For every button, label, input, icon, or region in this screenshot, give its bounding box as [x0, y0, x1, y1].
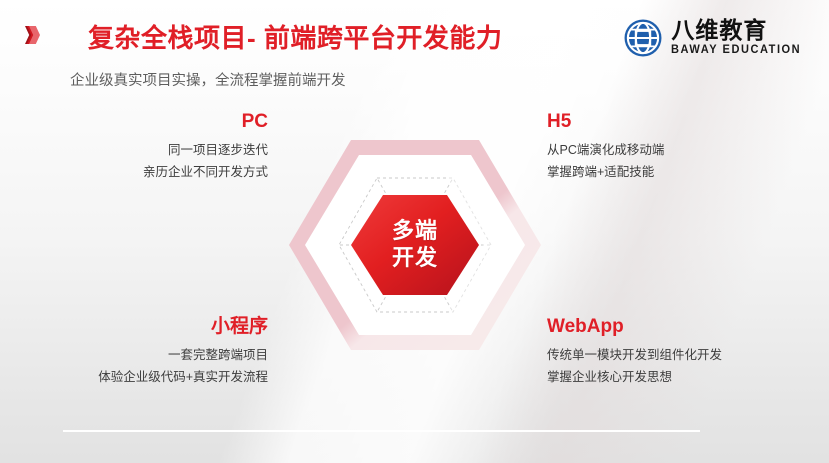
feature-line-miniprogram-2: 体验企业级代码+真实开发流程 [0, 367, 282, 389]
feature-line-h5-1: 从PC端演化成移动端 [545, 140, 825, 162]
hexagon-shapes [287, 138, 543, 352]
chevron-right-triple-icon [36, 26, 40, 44]
feature-heading-pc: PC [0, 112, 282, 131]
feature-block-miniprogram: 小程序 一套完整跨端项目 体验企业级代码+真实开发流程 [0, 317, 282, 388]
feature-heading-h5: H5 [545, 112, 825, 131]
brand-logo: 八维教育 BAWAY EDUCATION [622, 17, 807, 59]
hexagon-diagram: 多端 开发 [287, 138, 543, 352]
feature-heading-webapp: WebApp [545, 317, 825, 336]
slide-canvas: 复杂全栈项目- 前端跨平台开发能力 企业级真实项目实操，全流程掌握前端开发 八维… [0, 0, 829, 463]
bottom-divider [63, 430, 700, 432]
feature-block-webapp: WebApp 传统单一模块开发到组件化开发 掌握企业核心开发思想 [545, 317, 825, 388]
feature-line-pc-2: 亲历企业不同开发方式 [0, 162, 282, 184]
brand-name-cn: 八维教育 [671, 19, 807, 42]
globe-grid-icon [622, 17, 664, 59]
feature-line-webapp-2: 掌握企业核心开发思想 [545, 367, 825, 389]
feature-line-h5-2: 掌握跨端+适配技能 [545, 162, 825, 184]
feature-line-miniprogram-1: 一套完整跨端项目 [0, 345, 282, 367]
feature-heading-miniprogram: 小程序 [0, 317, 282, 336]
feature-line-pc-1: 同一项目逐步迭代 [0, 140, 282, 162]
brand-name-en: BAWAY EDUCATION [671, 45, 801, 57]
page-title: 复杂全栈项目- 前端跨平台开发能力 [88, 18, 502, 55]
feature-block-h5: H5 从PC端演化成移动端 掌握跨端+适配技能 [545, 112, 825, 183]
feature-block-pc: PC 同一项目逐步迭代 亲历企业不同开发方式 [0, 112, 282, 183]
feature-line-webapp-1: 传统单一模块开发到组件化开发 [545, 345, 825, 367]
page-subtitle: 企业级真实项目实操，全流程掌握前端开发 [70, 69, 346, 90]
